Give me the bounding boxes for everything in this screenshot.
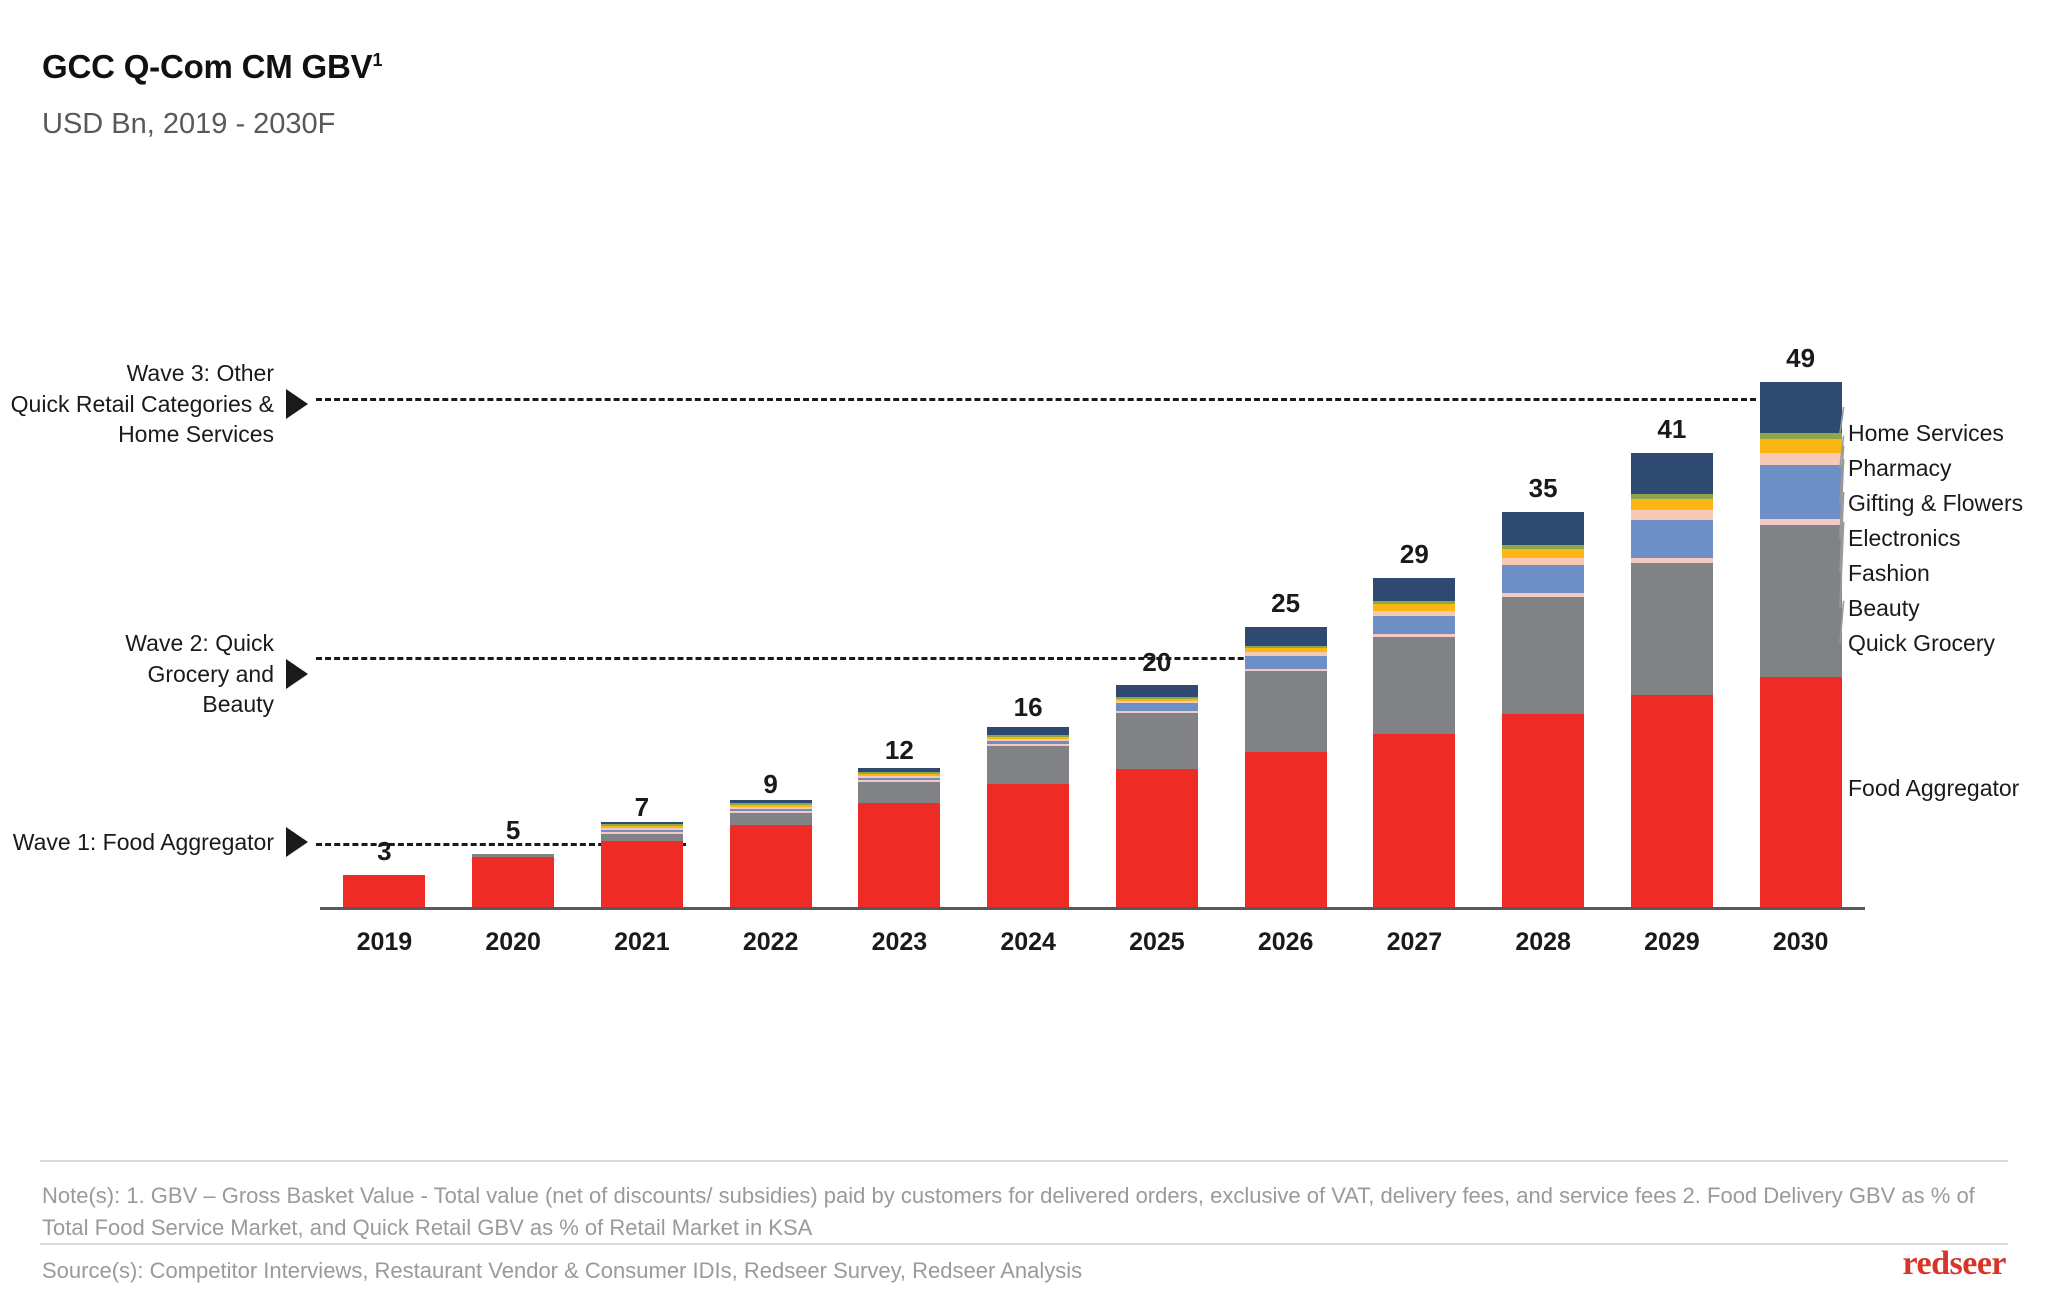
bar-segment-food-aggregator — [472, 857, 554, 907]
bar-segment-food-aggregator — [858, 803, 940, 907]
bar-segment-fashion — [1631, 520, 1713, 558]
title-text: GCC Q-Com CM GBV — [42, 48, 372, 85]
legend-label-home-services: Home Services — [1848, 420, 2004, 447]
bar-segment-quick-grocery — [987, 746, 1069, 784]
bar-2019[interactable] — [343, 875, 425, 907]
bar-segment-quick-grocery — [858, 782, 940, 803]
redseer-logo: redseer — [1903, 1245, 2006, 1283]
bar-segment-quick-grocery — [1502, 597, 1584, 714]
bar-total-label-2021: 7 — [601, 792, 683, 823]
bar-2030[interactable] — [1760, 382, 1842, 907]
footer-source: Source(s): Competitor Interviews, Restau… — [42, 1258, 1082, 1284]
chart-page: GCC Q-Com CM GBV1 USD Bn, 2019 - 2030F W… — [0, 0, 2048, 1311]
wave-1-label: Wave 1: Food Aggregator — [13, 827, 274, 858]
x-axis-label-2022: 2022 — [730, 928, 812, 957]
bar-segment-food-aggregator — [1245, 752, 1327, 907]
x-axis-label-2023: 2023 — [858, 928, 940, 957]
chart-plot-area: 35791216202529354149 — [310, 330, 1855, 910]
bar-segment-home-services — [987, 727, 1069, 734]
bar-segment-quick-grocery — [1245, 671, 1327, 752]
x-axis-label-2024: 2024 — [987, 928, 1069, 957]
x-axis-label-2026: 2026 — [1245, 928, 1327, 957]
bar-total-label-2029: 41 — [1631, 414, 1713, 445]
bar-total-label-2020: 5 — [472, 815, 554, 846]
bar-total-label-2026: 25 — [1245, 588, 1327, 619]
x-axis-label-2027: 2027 — [1373, 928, 1455, 957]
bar-segment-home-services — [1631, 453, 1713, 494]
bar-segment-electronics — [1760, 453, 1842, 466]
bar-2020[interactable] — [472, 854, 554, 907]
bar-segment-quick-grocery — [1116, 713, 1198, 769]
bar-segment-home-services — [1116, 685, 1198, 697]
legend-label-beauty: Beauty — [1848, 595, 1920, 622]
bar-2025[interactable] — [1116, 685, 1198, 907]
bar-2021[interactable] — [601, 822, 683, 907]
bar-segment-fashion — [1760, 465, 1842, 518]
x-axis-label-2021: 2021 — [601, 928, 683, 957]
wave-3-triangle-icon — [286, 389, 308, 419]
bar-2024[interactable] — [987, 727, 1069, 907]
bar-segment-quick-grocery — [1631, 563, 1713, 695]
x-axis-label-2020: 2020 — [472, 928, 554, 957]
x-axis-label-2030: 2030 — [1760, 928, 1842, 957]
bar-2029[interactable] — [1631, 453, 1713, 907]
bar-segment-food-aggregator — [1116, 769, 1198, 907]
bar-2023[interactable] — [858, 768, 940, 907]
wave-2-label: Wave 2: Quick Grocery and Beauty — [125, 628, 274, 720]
legend-label-quick-grocery: Quick Grocery — [1848, 630, 1995, 657]
bar-segment-gifting-flowers — [1760, 439, 1842, 453]
bar-segment-quick-grocery — [730, 813, 812, 826]
bar-2026[interactable] — [1245, 627, 1327, 907]
bar-total-label-2023: 12 — [858, 735, 940, 766]
bar-segment-home-services — [1373, 578, 1455, 601]
x-axis-label-2028: 2028 — [1502, 928, 1584, 957]
bar-total-label-2025: 20 — [1116, 647, 1198, 678]
bar-segment-home-services — [1760, 382, 1842, 433]
footer-divider-top — [40, 1160, 2008, 1162]
bar-segment-food-aggregator — [343, 875, 425, 907]
bar-segment-fashion — [1502, 565, 1584, 593]
legend-label-electronics: Electronics — [1848, 525, 1960, 552]
bar-segment-food-aggregator — [1631, 695, 1713, 907]
wave-1-annotation: Wave 1: Food Aggregator — [13, 827, 308, 858]
bar-2027[interactable] — [1373, 578, 1455, 907]
bar-total-label-2030: 49 — [1760, 343, 1842, 374]
bar-segment-quick-grocery — [601, 834, 683, 841]
x-axis-label-2025: 2025 — [1116, 928, 1198, 957]
footer-divider-bottom — [40, 1243, 2008, 1245]
wave-2-annotation: Wave 2: Quick Grocery and Beauty — [125, 628, 308, 720]
bar-segment-food-aggregator — [601, 841, 683, 907]
wave-1-triangle-icon — [286, 827, 308, 857]
bar-2028[interactable] — [1502, 512, 1584, 907]
bar-segment-quick-grocery — [1760, 525, 1842, 677]
bar-segment-home-services — [1245, 627, 1327, 646]
bar-segment-food-aggregator — [1502, 714, 1584, 907]
bar-segment-fashion — [1116, 703, 1198, 710]
bar-segment-quick-grocery — [1373, 637, 1455, 734]
bar-segment-fashion — [1373, 616, 1455, 634]
legend-label-gifting-flowers: Gifting & Flowers — [1848, 490, 2023, 517]
legend-label-pharmacy: Pharmacy — [1848, 455, 1952, 482]
bar-segment-food-aggregator — [987, 784, 1069, 907]
bar-2022[interactable] — [730, 800, 812, 907]
wave-3-label: Wave 3: Other Quick Retail Categories & … — [11, 358, 274, 450]
bar-segment-food-aggregator — [1373, 734, 1455, 907]
bar-total-label-2022: 9 — [730, 769, 812, 800]
bar-segment-gifting-flowers — [1502, 549, 1584, 557]
title-superscript: 1 — [372, 50, 382, 70]
bar-segment-food-aggregator — [1760, 677, 1842, 907]
bar-segment-home-services — [1502, 512, 1584, 545]
bar-segment-gifting-flowers — [1631, 499, 1713, 510]
x-axis-line — [320, 907, 1865, 910]
bar-total-label-2028: 35 — [1502, 473, 1584, 504]
legend-label-fashion: Fashion — [1848, 560, 1930, 587]
x-axis-label-2019: 2019 — [343, 928, 425, 957]
bar-total-label-2027: 29 — [1373, 539, 1455, 570]
bar-segment-electronics — [1502, 558, 1584, 565]
bar-segment-electronics — [1631, 510, 1713, 520]
legend-label-food-aggregator: Food Aggregator — [1848, 775, 2019, 802]
footer-notes: Note(s): 1. GBV – Gross Basket Value - T… — [42, 1180, 2017, 1244]
bar-total-label-2019: 3 — [343, 836, 425, 867]
x-axis-label-2029: 2029 — [1631, 928, 1713, 957]
bar-segment-food-aggregator — [730, 825, 812, 907]
page-subtitle: USD Bn, 2019 - 2030F — [42, 108, 335, 141]
wave-2-triangle-icon — [286, 659, 308, 689]
wave-3-annotation: Wave 3: Other Quick Retail Categories & … — [11, 358, 308, 450]
bar-total-label-2024: 16 — [987, 692, 1069, 723]
bar-segment-fashion — [1245, 656, 1327, 669]
page-title: GCC Q-Com CM GBV1 — [42, 48, 382, 86]
